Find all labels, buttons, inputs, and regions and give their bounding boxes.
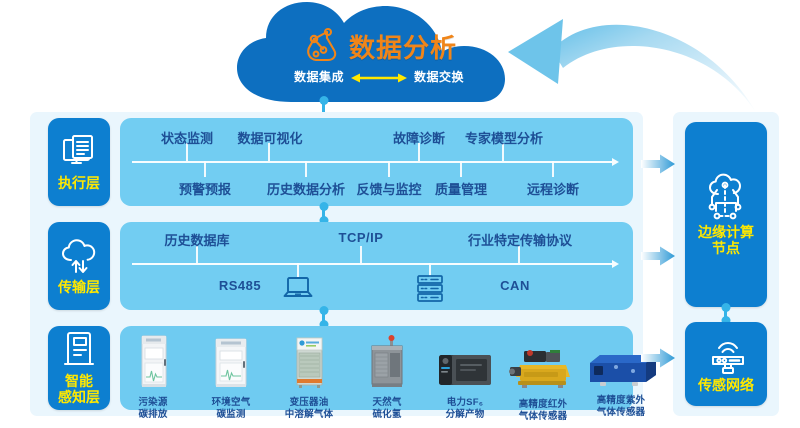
yellow-infrared-sensor: [508, 347, 578, 396]
device-caption: 高精度红外 气体传感器: [508, 399, 578, 422]
device-caption: 电力SF₆ 分解产物: [430, 397, 500, 420]
device-item: 高精度红外 气体传感器: [508, 333, 578, 422]
trans-top-item-1: 历史数据库: [164, 230, 229, 249]
server-icon: [415, 274, 445, 309]
layer-badge-execution[interactable]: 执行层: [48, 118, 110, 206]
exec-top-item-1: 状态监测: [161, 128, 213, 147]
bidirectional-arrow-icon: [351, 71, 407, 83]
cloud-sub-left: 数据集成: [294, 68, 344, 85]
flow-arrow-3: [641, 348, 675, 368]
device-item: 天然气 硫化氢: [352, 333, 422, 420]
connector-dot-edge-b: [721, 303, 730, 312]
trans-timeline-arrowhead: [612, 260, 619, 268]
layer-badge-label-execution: 执行层: [58, 176, 100, 192]
device-list: 污染源 碳排放 环境空气 碳监测: [118, 333, 628, 421]
trans-tick-dn-1: [297, 263, 299, 277]
laptop-icon: [283, 276, 313, 307]
device-item: 高精度紫外 气体传感器: [586, 333, 656, 418]
device-item: 环境空气 碳监测: [196, 333, 266, 420]
exec-tick-dn-4: [460, 161, 462, 177]
trans-tick-up-2: [360, 246, 362, 263]
trans-bot-item-can: CAN: [500, 278, 530, 293]
edge-cloud-node-icon: [703, 173, 749, 219]
black-desktop-analyzer: [430, 351, 500, 394]
trans-top-item-2: TCP/IP: [339, 230, 384, 245]
cloud-title: 数据分析: [349, 28, 457, 65]
layer-badge-label-transport: 传输层: [58, 280, 100, 296]
device-caption: 环境空气 碳监测: [196, 397, 266, 420]
exec-bot-item-5: 远程诊断: [527, 179, 579, 198]
white-cabinet-analyzer: [118, 333, 188, 394]
device-caption: 高精度紫外 气体传感器: [586, 395, 656, 418]
layer-badge-sensing[interactable]: 智能 感知层: [48, 326, 110, 410]
exec-bot-item-1: 预警预报: [179, 179, 231, 198]
exec-tick-dn-1: [204, 161, 206, 177]
trans-top-item-3: 行业特定传输协议: [468, 230, 572, 249]
device-caption: 天然气 硫化氢: [352, 397, 422, 420]
layer-body-transport: 历史数据库 TCP/IP 行业特定传输协议 RS485 CAN: [120, 222, 633, 310]
terminal-kiosk-icon: [59, 330, 99, 370]
right-card-label-edge: 边缘计算 节点: [698, 224, 754, 256]
device-caption: 变压器油 中溶解气体: [274, 397, 344, 420]
connector-dot-transport-b: [319, 306, 328, 315]
device-caption: 污染源 碳排放: [118, 397, 188, 420]
exec-timeline-arrowhead: [612, 158, 619, 166]
layer-badge-transport[interactable]: 传输层: [48, 222, 110, 310]
connector-dot-top: [319, 96, 328, 105]
feedback-curve-arrow: [505, 6, 795, 128]
right-card-edge-node[interactable]: 边缘计算 节点: [685, 122, 767, 307]
green-outdoor-cabinet: [274, 333, 344, 394]
flow-arrow-2: [641, 246, 675, 266]
exec-top-item-4: 专家模型分析: [465, 128, 543, 147]
right-card-label-sensor: 传感网络: [698, 377, 754, 393]
exec-tick-dn-3: [388, 161, 390, 177]
wireless-router-icon: [705, 335, 747, 375]
connector-dot-exec-b: [319, 202, 328, 211]
infographic-root: 数据分析 数据集成 数据交换: [0, 0, 800, 428]
exec-bot-item-3: 反馈与监控: [356, 179, 421, 198]
steel-cabinet: [352, 333, 422, 394]
white-cabinet-analyzer: [196, 333, 266, 394]
right-card-sensor-network[interactable]: 传感网络: [685, 322, 767, 406]
document-monitor-icon: [59, 132, 99, 172]
cloud-analytics-node: 数据分析 数据集成 数据交换: [233, 2, 525, 102]
trans-timeline-line: [132, 263, 612, 265]
exec-top-item-2: 数据可视化: [237, 128, 302, 147]
data-analysis-icon: [301, 24, 341, 69]
device-item: 电力SF₆ 分解产物: [430, 333, 500, 420]
exec-tick-dn-2: [305, 161, 307, 177]
trans-bot-item-rs485: RS485: [219, 278, 261, 293]
layer-body-execution: 状态监测 数据可视化 故障诊断 专家模型分析 预警预报 历史数据分析 反馈与监控…: [120, 118, 633, 206]
exec-bot-item-2: 历史数据分析: [267, 179, 345, 198]
flow-arrow-1: [641, 154, 675, 174]
device-item: 变压器油 中溶解气体: [274, 333, 344, 420]
exec-top-item-3: 故障诊断: [393, 128, 445, 147]
cloud-updown-icon: [59, 236, 99, 276]
layer-badge-label-sensing: 智能 感知层: [58, 374, 100, 405]
cloud-sub-right: 数据交换: [414, 68, 464, 85]
exec-tick-dn-5: [552, 161, 554, 177]
exec-bot-item-4: 质量管理: [435, 179, 487, 198]
device-item: 污染源 碳排放: [118, 333, 188, 420]
